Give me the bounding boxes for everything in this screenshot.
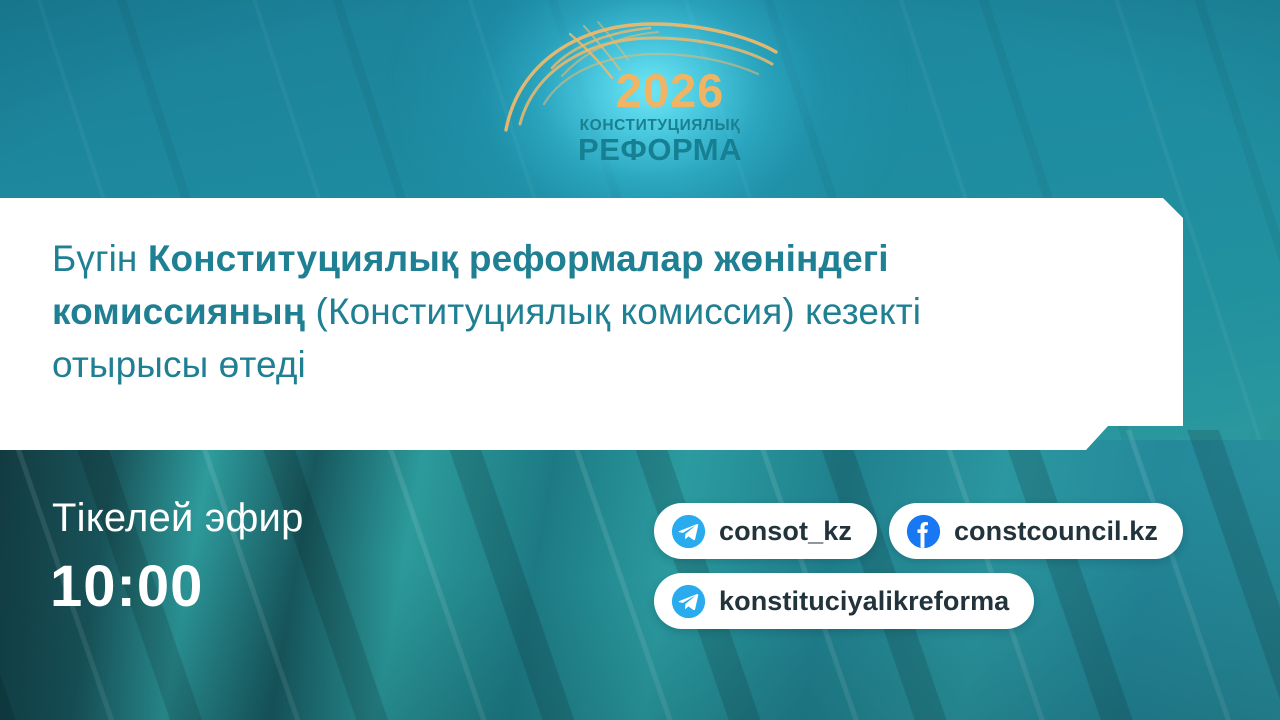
facebook-icon: [906, 514, 941, 549]
telegram-icon: [671, 584, 706, 619]
social-handle: constcouncil.kz: [954, 516, 1158, 547]
logo-year: 2026: [560, 67, 780, 114]
social-badge-telegram-consot[interactable]: consot_kz: [654, 503, 877, 559]
announcement-banner: 2026 КОНСТИТУЦИЯЛЫҚ РЕФОРМА Бүгін Консти…: [0, 0, 1280, 720]
live-broadcast-label: Тікелей эфир: [52, 498, 304, 538]
telegram-icon: [671, 514, 706, 549]
headline-text: Бүгін Конституциялық реформалар жөніндег…: [52, 232, 1052, 391]
social-badges-row-2: konstituciyalikreforma: [654, 573, 1034, 629]
reform-logo: 2026 КОНСТИТУЦИЯЛЫҚ РЕФОРМА: [500, 12, 780, 177]
social-badge-facebook-constcouncil[interactable]: constcouncil.kz: [889, 503, 1183, 559]
social-handle: consot_kz: [719, 516, 852, 547]
headline-prefix: Бүгін: [52, 238, 148, 279]
logo-subtitle-large: РЕФОРМА: [540, 134, 780, 165]
social-handle: konstituciyalikreforma: [719, 586, 1009, 617]
social-badges-row-1: consot_kz constcouncil.kz: [654, 503, 1183, 559]
live-broadcast-time: 10:00: [50, 558, 203, 616]
social-badge-telegram-konstituciyalikreforma[interactable]: konstituciyalikreforma: [654, 573, 1034, 629]
